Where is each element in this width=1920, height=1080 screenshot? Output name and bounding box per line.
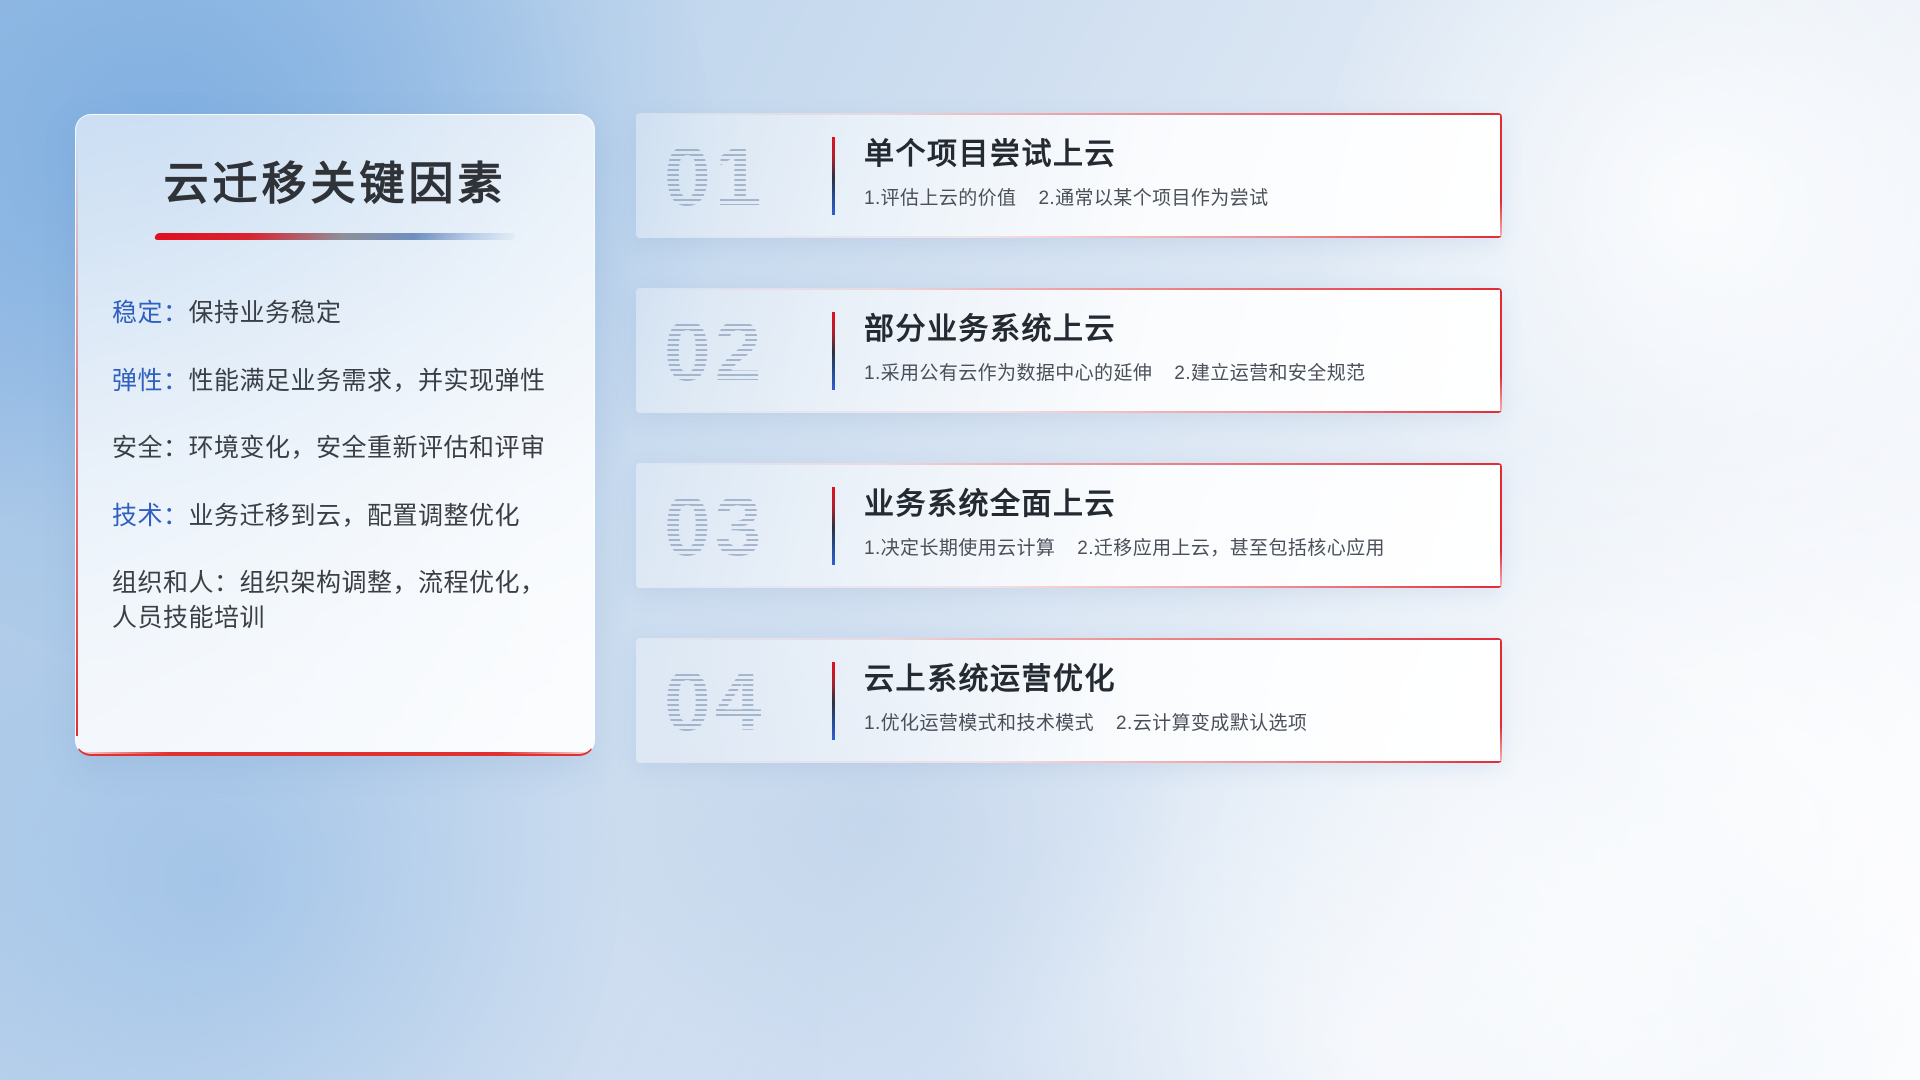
card-bottom-accent bbox=[636, 236, 1502, 238]
list-item: 组织和人：组织架构调整，流程优化，人员技能培训 bbox=[112, 566, 564, 635]
step-content: 单个项目尝试上云 1.评估上云的价值2.通常以某个项目作为尝试 bbox=[864, 137, 1476, 212]
step-title: 单个项目尝试上云 bbox=[864, 137, 1476, 173]
factor-text: 性能满足业务需求，并实现弹性 bbox=[189, 367, 546, 395]
step-content: 业务系统全面上云 1.决定长期使用云计算2.迁移应用上云，甚至包括核心应用 bbox=[864, 487, 1476, 562]
list-item: 弹性：性能满足业务需求，并实现弹性 bbox=[112, 364, 564, 399]
step-content: 部分业务系统上云 1.采用公有云作为数据中心的延伸2.建立运营和安全规范 bbox=[864, 312, 1476, 387]
list-item: 技术：业务迁移到云，配置调整优化 bbox=[112, 499, 564, 534]
step-description: 1.采用公有云作为数据中心的延伸2.建立运营和安全规范 bbox=[864, 362, 1476, 387]
step-card-01[interactable]: 01 单个项目尝试上云 1.评估上云的价值2.通常以某个项目作为尝试 bbox=[636, 113, 1502, 238]
step-number-badge: 01 bbox=[664, 134, 765, 218]
factor-text: 业务迁移到云，配置调整优化 bbox=[189, 502, 521, 530]
step-card-04[interactable]: 04 云上系统运营优化 1.优化运营模式和技术模式2.云计算变成默认选项 bbox=[636, 638, 1502, 763]
step-point-2: 2.迁移应用上云，甚至包括核心应用 bbox=[1077, 538, 1385, 559]
step-point-2: 2.建立运营和安全规范 bbox=[1174, 363, 1365, 384]
step-description: 1.决定长期使用云计算2.迁移应用上云，甚至包括核心应用 bbox=[864, 537, 1476, 562]
step-number-badge: 04 bbox=[664, 659, 765, 743]
step-description: 1.优化运营模式和技术模式2.云计算变成默认选项 bbox=[864, 712, 1476, 737]
step-number-badge: 02 bbox=[664, 309, 765, 393]
step-content: 云上系统运营优化 1.优化运营模式和技术模式2.云计算变成默认选项 bbox=[864, 662, 1476, 737]
slide-canvas: 云迁移关键因素 稳定：保持业务稳定 弹性：性能满足业务需求，并实现弹性 安全：环… bbox=[0, 0, 1920, 1080]
factor-text: 保持业务稳定 bbox=[189, 299, 342, 327]
step-card-03[interactable]: 03 业务系统全面上云 1.决定长期使用云计算2.迁移应用上云，甚至包括核心应用 bbox=[636, 463, 1502, 588]
step-point-1: 1.评估上云的价值 bbox=[864, 188, 1016, 209]
step-number-badge: 03 bbox=[664, 484, 765, 568]
key-factors-list: 稳定：保持业务稳定 弹性：性能满足业务需求，并实现弹性 安全：环境变化，安全重新… bbox=[76, 296, 594, 635]
panel-left-accent-bar bbox=[76, 137, 78, 736]
step-point-1: 1.决定长期使用云计算 bbox=[864, 538, 1055, 559]
step-divider-bar bbox=[832, 312, 835, 390]
step-description: 1.评估上云的价值2.通常以某个项目作为尝试 bbox=[864, 187, 1476, 212]
step-title: 云上系统运营优化 bbox=[864, 662, 1476, 698]
list-item: 稳定：保持业务稳定 bbox=[112, 296, 564, 331]
step-divider-bar bbox=[832, 662, 835, 740]
factor-label: 组织和人： bbox=[112, 569, 240, 597]
factor-label: 弹性： bbox=[112, 367, 189, 395]
list-item: 安全：环境变化，安全重新评估和评审 bbox=[112, 431, 564, 466]
card-bottom-accent bbox=[636, 586, 1502, 588]
step-point-1: 1.采用公有云作为数据中心的延伸 bbox=[864, 363, 1152, 384]
step-divider-bar bbox=[832, 487, 835, 565]
factor-text: 环境变化，安全重新评估和评审 bbox=[189, 434, 546, 462]
title-underline-gradient bbox=[154, 233, 516, 240]
page-title: 云迁移关键因素 bbox=[76, 157, 594, 211]
step-point-2: 2.云计算变成默认选项 bbox=[1116, 713, 1307, 734]
step-title: 业务系统全面上云 bbox=[864, 487, 1476, 523]
migration-steps-list: 01 单个项目尝试上云 1.评估上云的价值2.通常以某个项目作为尝试 02 部分… bbox=[636, 113, 1502, 763]
step-title: 部分业务系统上云 bbox=[864, 312, 1476, 348]
step-point-2: 2.通常以某个项目作为尝试 bbox=[1038, 188, 1268, 209]
factor-label: 安全： bbox=[112, 434, 189, 462]
step-divider-bar bbox=[832, 137, 835, 215]
key-factors-panel: 云迁移关键因素 稳定：保持业务稳定 弹性：性能满足业务需求，并实现弹性 安全：环… bbox=[75, 114, 595, 756]
step-point-1: 1.优化运营模式和技术模式 bbox=[864, 713, 1094, 734]
card-bottom-accent bbox=[636, 761, 1502, 763]
factor-label: 稳定： bbox=[112, 299, 189, 327]
step-card-02[interactable]: 02 部分业务系统上云 1.采用公有云作为数据中心的延伸2.建立运营和安全规范 bbox=[636, 288, 1502, 413]
factor-label: 技术： bbox=[112, 502, 189, 530]
card-bottom-accent bbox=[636, 411, 1502, 413]
